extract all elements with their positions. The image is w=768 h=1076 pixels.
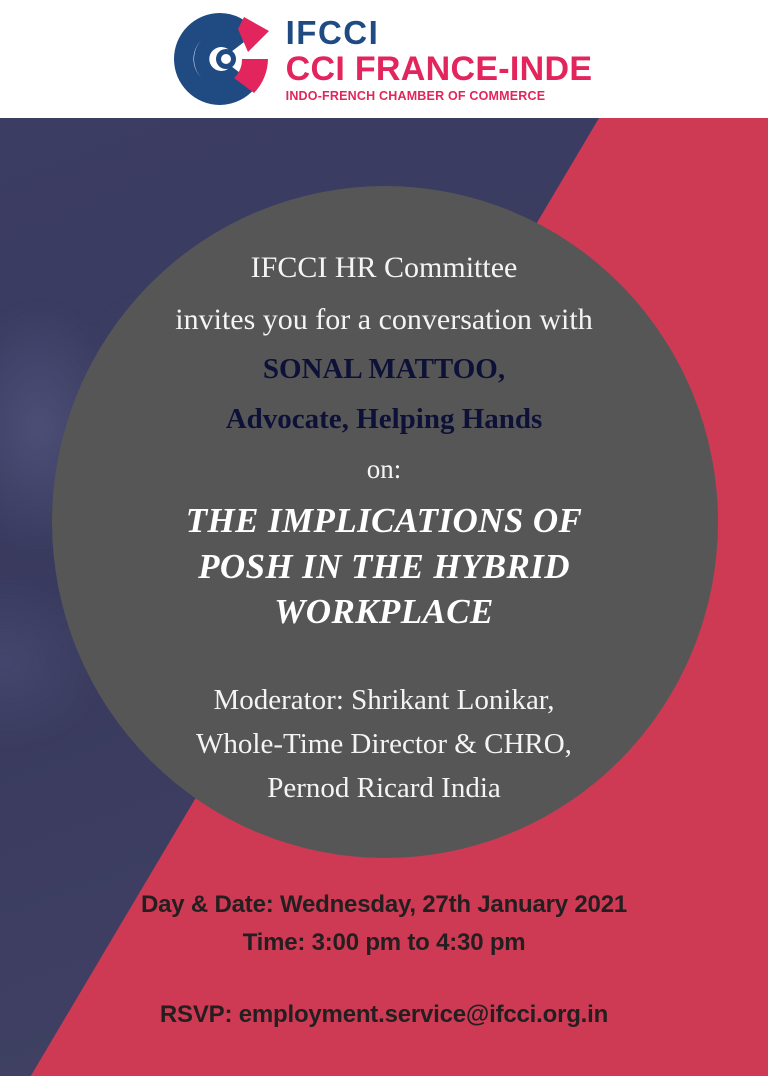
poster-footer: Day & Date: Wednesday, 27th January 2021… bbox=[0, 890, 768, 1030]
moderator-designation: Whole-Time Director & CHRO, bbox=[84, 722, 684, 766]
speaker-role: Advocate, Helping Hands bbox=[0, 395, 768, 445]
ifcci-logo: IFCCI CCI FRANCE-INDE INDO-FRENCH CHAMBE… bbox=[168, 9, 593, 109]
invitation-on-label: on: bbox=[0, 445, 768, 493]
invitation-line-committee: IFCCI HR Committee bbox=[0, 242, 768, 294]
event-title: THE IMPLICATIONS OF POSH IN THE HYBRID W… bbox=[84, 498, 684, 635]
logo-line-tagline: INDO-FRENCH CHAMBER OF COMMERCE bbox=[286, 90, 593, 103]
logo-line-cci-france-inde: CCI FRANCE-INDE bbox=[286, 52, 593, 86]
event-title-line-1: THE IMPLICATIONS OF bbox=[84, 498, 684, 544]
event-title-line-2: POSH IN THE HYBRID bbox=[84, 544, 684, 590]
poster-content: IFCCI HR Committee invites you for a con… bbox=[0, 0, 768, 1076]
moderator-name: Moderator: Shrikant Lonikar, bbox=[84, 678, 684, 722]
event-title-line-3: WORKPLACE bbox=[84, 589, 684, 635]
invitation-line-conversation: invites you for a conversation with bbox=[0, 294, 768, 346]
speaker-name: SONAL MATTOO, bbox=[0, 345, 768, 395]
rsvp-email[interactable]: RSVP: employment.service@ifcci.org.in bbox=[0, 1000, 768, 1030]
event-date: Day & Date: Wednesday, 27th January 2021 bbox=[0, 890, 768, 920]
moderator-company: Pernod Ricard India bbox=[84, 766, 684, 810]
invitation-block: IFCCI HR Committee invites you for a con… bbox=[0, 242, 768, 493]
ifcci-logo-text: IFCCI CCI FRANCE-INDE INDO-FRENCH CHAMBE… bbox=[286, 16, 593, 103]
event-time: Time: 3:00 pm to 4:30 pm bbox=[0, 928, 768, 958]
event-poster: IFCCI CCI FRANCE-INDE INDO-FRENCH CHAMBE… bbox=[0, 0, 768, 1076]
ifcci-concentric-c-logo-mark-icon bbox=[168, 9, 272, 109]
poster-header: IFCCI CCI FRANCE-INDE INDO-FRENCH CHAMBE… bbox=[0, 0, 768, 118]
moderator-block: Moderator: Shrikant Lonikar, Whole-Time … bbox=[84, 678, 684, 810]
logo-line-ifcci: IFCCI bbox=[286, 16, 593, 49]
